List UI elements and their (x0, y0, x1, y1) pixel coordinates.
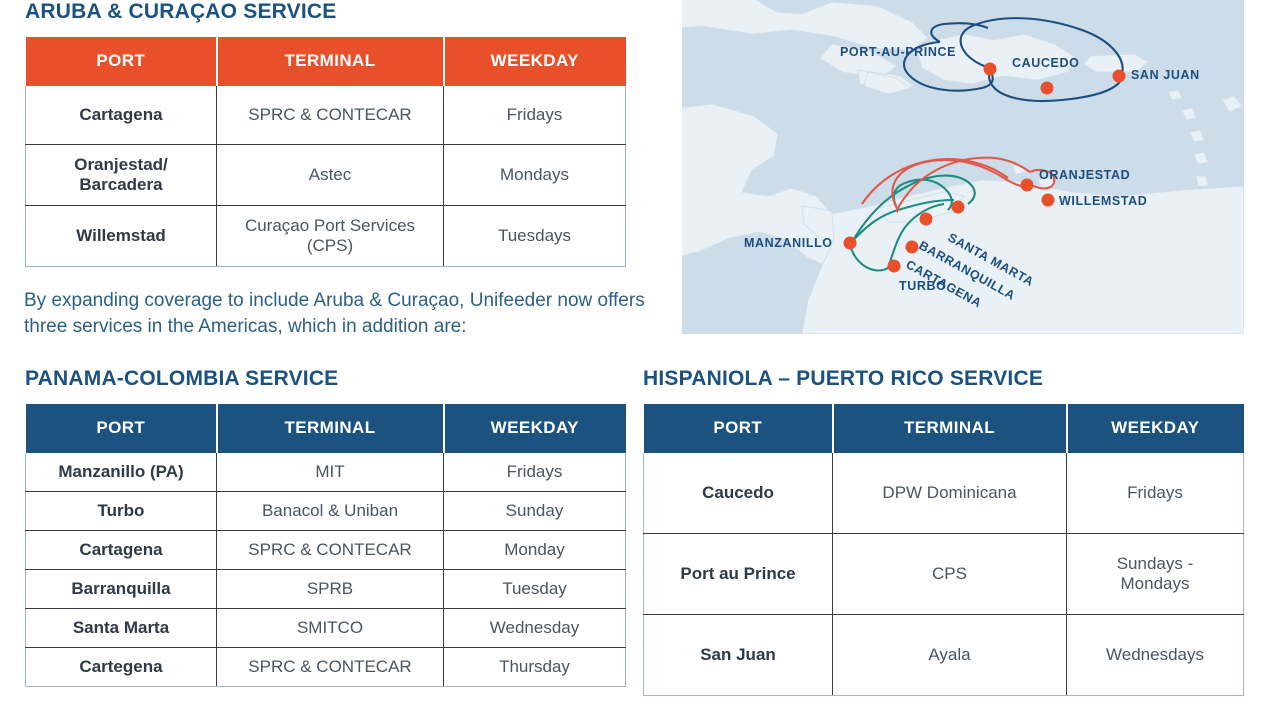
cell-port: Cartegena (26, 648, 217, 687)
cell-weekday: Fridays (444, 86, 626, 145)
aruba-curacao-service-block: ARUBA & CURAÇAO SERVICE PORT TERMINAL WE… (25, 0, 625, 267)
map-label-turbo: TURBO (899, 279, 946, 293)
table-row: San Juan Ayala Wednesdays (644, 615, 1244, 696)
table-row: Cartagena SPRC & CONTECAR Fridays (26, 86, 626, 145)
cell-port: Caucedo (644, 453, 833, 534)
map-svg: PORT-AU-PRINCE CAUCEDO SAN JUAN ORANJEST… (682, 0, 1244, 334)
cell-port: Oranjestad/Barcadera (26, 145, 217, 206)
cell-terminal: Curaçao Port Services(CPS) (217, 206, 444, 267)
port-dot-manzanillo (844, 237, 857, 250)
cell-terminal: SPRC & CONTECAR (217, 86, 444, 145)
map-label-oranjestad: ORANJESTAD (1039, 168, 1130, 182)
table-row: Cartagena SPRC & CONTECAR Monday (26, 531, 626, 570)
map-label-caucedo: CAUCEDO (1012, 56, 1079, 70)
port-dot-port-au-prince (984, 63, 997, 76)
port-dot-caucedo (1041, 82, 1054, 95)
port-dot-santa-marta (952, 201, 965, 214)
column-header-terminal: TERMINAL (217, 404, 444, 453)
cell-terminal: SPRB (217, 570, 444, 609)
port-dot-oranjestad (1021, 179, 1034, 192)
column-header-port: PORT (644, 404, 833, 453)
panama-service-title: PANAMA-COLOMBIA SERVICE (25, 367, 625, 391)
cell-port: San Juan (644, 615, 833, 696)
cell-weekday: Tuesdays (444, 206, 626, 267)
column-header-weekday: WEEKDAY (444, 404, 626, 453)
aruba-service-table: PORT TERMINAL WEEKDAY Cartagena SPRC & C… (25, 36, 626, 267)
cell-port: Turbo (26, 492, 217, 531)
cell-port: Cartagena (26, 531, 217, 570)
table-row: Manzanillo (PA) MIT Fridays (26, 453, 626, 492)
cell-weekday: Fridays (444, 453, 626, 492)
table-row: Caucedo DPW Dominicana Fridays (644, 453, 1244, 534)
column-header-terminal: TERMINAL (217, 37, 444, 86)
panama-service-table: PORT TERMINAL WEEKDAY Manzanillo (PA) MI… (25, 403, 626, 687)
map-label-san-juan: SAN JUAN (1131, 68, 1200, 82)
cell-weekday: Wednesdays (1067, 615, 1244, 696)
intro-paragraph: By expanding coverage to include Aruba &… (24, 288, 654, 339)
hispaniola-service-table: PORT TERMINAL WEEKDAY Caucedo DPW Domini… (643, 403, 1244, 696)
cell-port: Port au Prince (644, 534, 833, 615)
hispaniola-service-title: HISPANIOLA – PUERTO RICO SERVICE (643, 367, 1243, 391)
table-row: Cartegena SPRC & CONTECAR Thursday (26, 648, 626, 687)
cell-weekday: Tuesday (444, 570, 626, 609)
cell-terminal: SPRC & CONTECAR (217, 648, 444, 687)
port-dot-san-juan (1113, 70, 1126, 83)
cell-port: Cartagena (26, 86, 217, 145)
hispaniola-puerto-rico-service-block: HISPANIOLA – PUERTO RICO SERVICE PORT TE… (643, 367, 1243, 696)
cell-weekday: Wednesday (444, 609, 626, 648)
cell-weekday: Monday (444, 531, 626, 570)
cell-weekday: Mondays (444, 145, 626, 206)
cell-terminal: MIT (217, 453, 444, 492)
cell-weekday: Sunday (444, 492, 626, 531)
port-dot-cartagena (906, 241, 919, 254)
column-header-port: PORT (26, 37, 217, 86)
table-row: Turbo Banacol & Uniban Sunday (26, 492, 626, 531)
map-label-port-au-prince: PORT-AU-PRINCE (840, 45, 956, 59)
cell-weekday: Sundays -Mondays (1067, 534, 1244, 615)
cell-port: Santa Marta (26, 609, 217, 648)
cell-port: Willemstad (26, 206, 217, 267)
table-row: Santa Marta SMITCO Wednesday (26, 609, 626, 648)
table-row: Port au Prince CPS Sundays -Mondays (644, 534, 1244, 615)
table-row: Oranjestad/Barcadera Astec Mondays (26, 145, 626, 206)
cell-terminal: Ayala (833, 615, 1067, 696)
port-dot-turbo (888, 260, 901, 273)
column-header-weekday: WEEKDAY (1067, 404, 1244, 453)
table-header-row: PORT TERMINAL WEEKDAY (26, 37, 626, 86)
column-header-weekday: WEEKDAY (444, 37, 626, 86)
cell-terminal: Banacol & Uniban (217, 492, 444, 531)
infographic-page: ARUBA & CURAÇAO SERVICE PORT TERMINAL WE… (0, 0, 1261, 718)
cell-terminal: Astec (217, 145, 444, 206)
cell-port: Manzanillo (PA) (26, 453, 217, 492)
table-row: Willemstad Curaçao Port Services(CPS) Tu… (26, 206, 626, 267)
port-dot-barranquilla (920, 213, 933, 226)
map-label-manzanillo: MANZANILLO (744, 236, 833, 250)
aruba-service-title: ARUBA & CURAÇAO SERVICE (25, 0, 625, 24)
cell-terminal: DPW Dominicana (833, 453, 1067, 534)
table-row: Barranquilla SPRB Tuesday (26, 570, 626, 609)
cell-terminal: SMITCO (217, 609, 444, 648)
port-dot-willemstad (1042, 194, 1055, 207)
column-header-port: PORT (26, 404, 217, 453)
table-header-row: PORT TERMINAL WEEKDAY (26, 404, 626, 453)
panama-colombia-service-block: PANAMA-COLOMBIA SERVICE PORT TERMINAL WE… (25, 367, 625, 687)
cell-terminal: CPS (833, 534, 1067, 615)
cell-port: Barranquilla (26, 570, 217, 609)
cell-weekday: Fridays (1067, 453, 1244, 534)
map-label-willemstad: WILLEMSTAD (1059, 194, 1147, 208)
cell-weekday: Thursday (444, 648, 626, 687)
caribbean-route-map: PORT-AU-PRINCE CAUCEDO SAN JUAN ORANJEST… (682, 0, 1244, 334)
column-header-terminal: TERMINAL (833, 404, 1067, 453)
cell-terminal: SPRC & CONTECAR (217, 531, 444, 570)
table-header-row: PORT TERMINAL WEEKDAY (644, 404, 1244, 453)
